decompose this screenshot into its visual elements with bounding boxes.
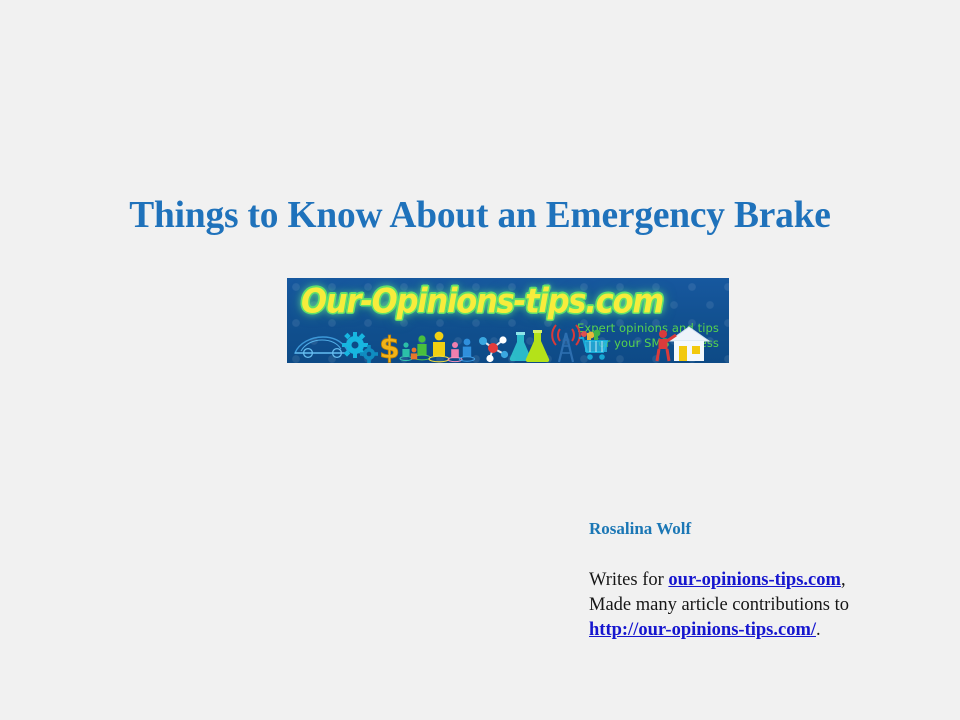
- banner-icon-strip: $: [291, 321, 611, 363]
- author-block: Rosalina Wolf Writes for our-opinions-ti…: [589, 518, 934, 643]
- author-bio-line-1: Writes for our-opinions-tips.com,: [589, 568, 934, 593]
- author-site-url-link[interactable]: http://our-opinions-tips.com/: [589, 620, 816, 640]
- author-bio-line-2: Made many article contributions to: [589, 593, 934, 618]
- antenna-signal-icon: [552, 325, 580, 362]
- person-red-icon: [657, 330, 676, 361]
- author-bio-period: .: [816, 620, 821, 640]
- page-title: Things to Know About an Emergency Brake: [7, 192, 953, 238]
- author-bio-prefix: Writes for: [589, 570, 668, 590]
- car-icon: [295, 337, 349, 357]
- house-icon: [669, 327, 709, 361]
- author-name: Rosalina Wolf: [589, 518, 934, 540]
- svg-text:$: $: [379, 331, 400, 363]
- banner-logo-wordmark: Our-Opinions-tips.com: [301, 280, 663, 323]
- gears-icon: [342, 332, 378, 363]
- dollar-sign-icon: $: [379, 331, 400, 363]
- house-icon-group: [643, 321, 723, 363]
- people-group-icon: [400, 332, 475, 362]
- site-banner-image: Our-Opinions-tips.com Expert opinions an…: [287, 278, 729, 363]
- author-bio-line-3: http://our-opinions-tips.com/.: [589, 618, 934, 643]
- shopping-cart-icon: [579, 330, 607, 360]
- slide-canvas: Things to Know About an Emergency Brake …: [0, 0, 960, 720]
- flask-icon: [510, 330, 550, 362]
- author-bio: Writes for our-opinions-tips.com, Made m…: [589, 568, 934, 643]
- author-bio-comma: ,: [841, 570, 846, 590]
- banner-inner: Our-Opinions-tips.com Expert opinions an…: [287, 278, 729, 363]
- molecule-icon: [479, 336, 508, 362]
- author-site-link[interactable]: our-opinions-tips.com: [668, 570, 841, 590]
